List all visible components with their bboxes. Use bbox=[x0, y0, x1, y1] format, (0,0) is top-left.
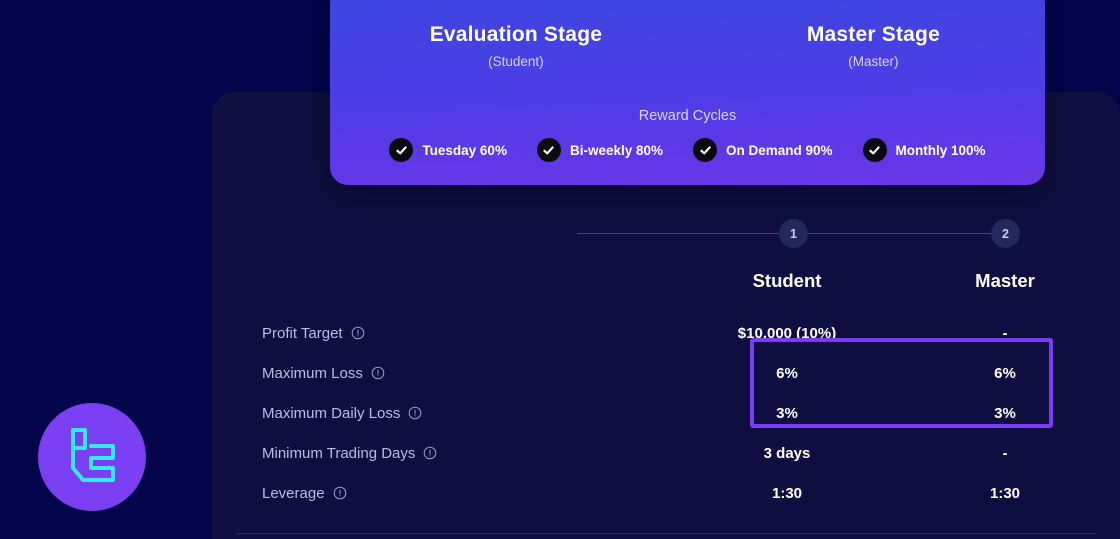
table-row: Leverage 1:30 1:30 bbox=[262, 473, 1062, 513]
row-label-text: Maximum Loss bbox=[262, 365, 363, 382]
row-label-minimum-trading-days: Minimum Trading Days bbox=[262, 445, 437, 462]
stage-evaluation: Evaluation Stage (Student) bbox=[330, 22, 702, 70]
reward-cycle-label: Bi-weekly 80% bbox=[570, 143, 663, 158]
table-header-row: Student Master bbox=[262, 270, 1062, 302]
table-row: Maximum Daily Loss 3% 3% bbox=[262, 393, 1062, 433]
stage-title: Master Stage bbox=[702, 22, 1045, 48]
cell-student: 3 days bbox=[717, 445, 857, 462]
info-icon[interactable] bbox=[423, 446, 437, 460]
table-row: Maximum Loss 6% 6% bbox=[262, 353, 1062, 393]
row-label-maximum-daily-loss: Maximum Daily Loss bbox=[262, 405, 422, 422]
stage-master: Master Stage (Master) bbox=[702, 22, 1045, 70]
info-icon[interactable] bbox=[371, 366, 385, 380]
stepper-step-1[interactable]: 1 bbox=[779, 219, 808, 248]
reward-cycles-label: Reward Cycles bbox=[330, 108, 1045, 124]
cell-master: 3% bbox=[935, 405, 1075, 422]
reward-cycle-label: On Demand 90% bbox=[726, 143, 833, 158]
cell-student: 6% bbox=[717, 365, 857, 382]
panel-divider bbox=[236, 533, 1096, 534]
stepper-step-2[interactable]: 2 bbox=[991, 219, 1020, 248]
cell-student: 3% bbox=[717, 405, 857, 422]
stage-subtitle: (Student) bbox=[330, 53, 702, 70]
reward-cycle-item: Monthly 100% bbox=[863, 138, 986, 162]
column-header-master: Master bbox=[935, 270, 1075, 292]
reward-cycle-label: Tuesday 60% bbox=[422, 143, 507, 158]
row-label-text: Profit Target bbox=[262, 325, 343, 342]
row-label-text: Maximum Daily Loss bbox=[262, 405, 400, 422]
reward-cycle-item: Tuesday 60% bbox=[389, 138, 507, 162]
row-label-text: Minimum Trading Days bbox=[262, 445, 415, 462]
column-header-student: Student bbox=[717, 270, 857, 292]
row-label-text: Leverage bbox=[262, 485, 325, 502]
promo-banner: Evaluation Stage (Student) Master Stage … bbox=[330, 0, 1045, 185]
page-root: Evaluation Stage (Student) Master Stage … bbox=[0, 0, 1120, 539]
stage-subtitle: (Master) bbox=[702, 53, 1045, 70]
row-label-profit-target: Profit Target bbox=[262, 325, 365, 342]
reward-cycle-label: Monthly 100% bbox=[896, 143, 986, 158]
check-icon bbox=[693, 138, 717, 162]
check-icon bbox=[389, 138, 413, 162]
cell-master: 6% bbox=[935, 365, 1075, 382]
stage-headers: Evaluation Stage (Student) Master Stage … bbox=[330, 22, 1045, 70]
table-row: Minimum Trading Days 3 days - bbox=[262, 433, 1062, 473]
reward-cycle-item: Bi-weekly 80% bbox=[537, 138, 663, 162]
reward-cycles-list: Tuesday 60% Bi-weekly 80% On Demand 90% … bbox=[330, 138, 1045, 162]
check-icon bbox=[537, 138, 561, 162]
table-row: Profit Target $10.000 (10%) - bbox=[262, 313, 1062, 353]
row-label-leverage: Leverage bbox=[262, 485, 347, 502]
reward-cycle-item: On Demand 90% bbox=[693, 138, 833, 162]
check-icon bbox=[863, 138, 887, 162]
info-icon[interactable] bbox=[351, 326, 365, 340]
stage-stepper: 1 2 bbox=[577, 219, 1020, 249]
stage-title: Evaluation Stage bbox=[330, 22, 702, 48]
cell-master: 1:30 bbox=[935, 485, 1075, 502]
row-label-maximum-loss: Maximum Loss bbox=[262, 365, 385, 382]
brand-logo[interactable] bbox=[38, 403, 146, 511]
logo-monogram-icon bbox=[61, 426, 123, 488]
cell-student: $10.000 (10%) bbox=[717, 325, 857, 342]
cell-master: - bbox=[935, 445, 1075, 462]
info-icon[interactable] bbox=[333, 486, 347, 500]
info-icon[interactable] bbox=[408, 406, 422, 420]
cell-student: 1:30 bbox=[717, 485, 857, 502]
cell-master: - bbox=[935, 325, 1075, 342]
